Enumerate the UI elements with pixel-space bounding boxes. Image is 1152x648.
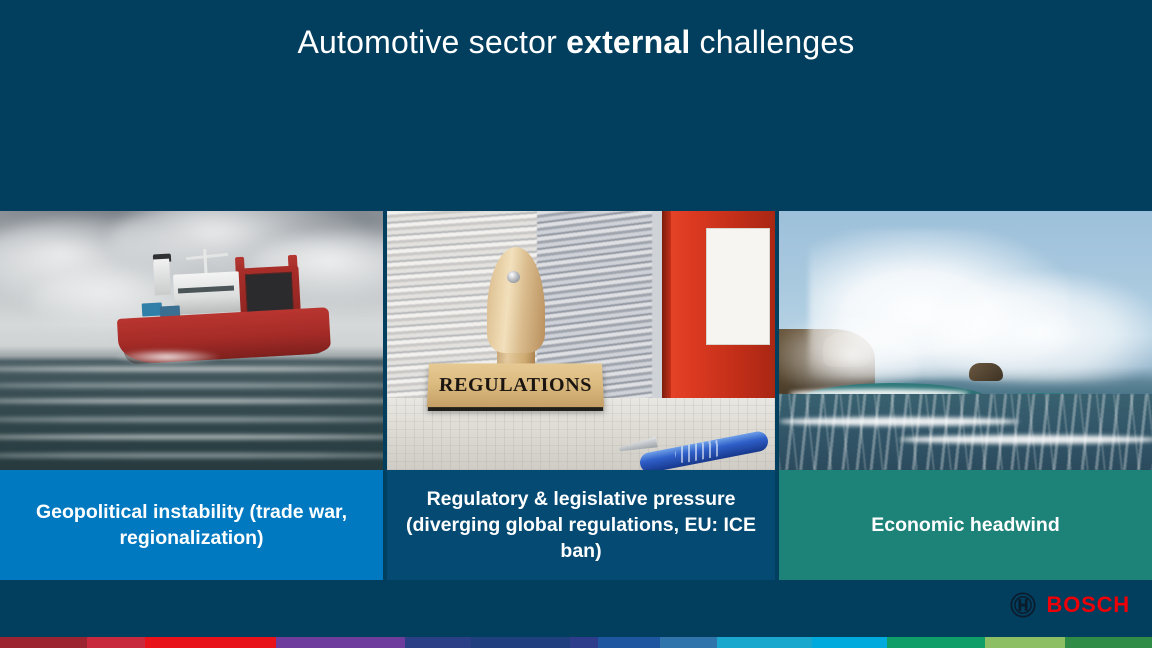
footer-band: BOSCH bbox=[0, 580, 1152, 637]
ship-funnel bbox=[153, 259, 171, 296]
slide: Automotive sector external challenges bbox=[0, 0, 1152, 648]
binder-label bbox=[707, 229, 769, 344]
content-columns: Geopolitical instability (trade war, reg… bbox=[0, 211, 1152, 580]
caption-regulatory-pressure: Regulatory & legislative pressure (diver… bbox=[387, 470, 775, 580]
column-regulatory-pressure[interactable]: REGULATIONS Regulatory & legislative pre… bbox=[387, 211, 775, 580]
regulations-stamp-photo: REGULATIONS bbox=[387, 211, 775, 470]
bosch-wordmark: BOSCH bbox=[1047, 592, 1130, 618]
color-strip-segment-10 bbox=[812, 637, 887, 648]
bow-spray bbox=[112, 349, 222, 365]
title-suffix: challenges bbox=[690, 24, 854, 60]
wave-foam bbox=[779, 417, 1019, 426]
color-strip-segment-12 bbox=[985, 637, 1065, 648]
column-geopolitical-instability[interactable]: Geopolitical instability (trade war, reg… bbox=[0, 211, 383, 580]
cargo-ship bbox=[118, 251, 333, 367]
wave-crest bbox=[0, 435, 383, 439]
bosch-armature-icon bbox=[1010, 592, 1036, 618]
sea-surface-texture bbox=[779, 394, 1152, 470]
bosch-logo: BOSCH bbox=[1010, 592, 1130, 618]
ocean-waves-photo bbox=[779, 211, 1152, 470]
color-strip-segment-13 bbox=[1065, 637, 1152, 648]
color-strip-segment-7 bbox=[598, 637, 660, 648]
coastal-rock bbox=[969, 363, 1003, 381]
color-strip-segment-4 bbox=[405, 637, 471, 648]
page-title: Automotive sector external challenges bbox=[0, 20, 1152, 64]
color-strip-segment-2 bbox=[145, 637, 276, 648]
color-strip-segment-3 bbox=[276, 637, 405, 648]
column-economic-headwind[interactable]: Economic headwind bbox=[779, 211, 1152, 580]
color-strip-segment-0 bbox=[0, 637, 87, 648]
wave-crest bbox=[0, 383, 383, 388]
brand-color-strip bbox=[0, 637, 1152, 648]
color-strip-segment-5 bbox=[471, 637, 570, 648]
wave-crest bbox=[0, 399, 383, 403]
red-binder bbox=[665, 211, 775, 407]
wave-crest bbox=[0, 367, 383, 371]
binder-spine bbox=[662, 211, 671, 407]
color-strip-segment-1 bbox=[87, 637, 145, 648]
color-strip-segment-11 bbox=[887, 637, 985, 648]
stamp-text: REGULATIONS bbox=[427, 363, 604, 407]
caption-economic-headwind: Economic headwind bbox=[779, 470, 1152, 580]
wave-foam bbox=[899, 435, 1152, 444]
color-strip-segment-9 bbox=[717, 637, 812, 648]
ship-mast-crossbeam bbox=[186, 253, 228, 260]
cargo-ship-storm-photo bbox=[0, 211, 383, 470]
caption-geopolitical-instability: Geopolitical instability (trade war, reg… bbox=[0, 470, 383, 580]
color-strip-segment-8 bbox=[660, 637, 717, 648]
color-strip-segment-6 bbox=[570, 637, 598, 648]
wave-crest bbox=[0, 417, 383, 422]
wave-crest bbox=[0, 453, 383, 458]
title-prefix: Automotive sector bbox=[297, 24, 566, 60]
title-emphasis: external bbox=[566, 24, 690, 60]
title-area: Automotive sector external challenges bbox=[0, 0, 1152, 211]
stamp-rivet bbox=[507, 271, 520, 283]
wave-spray bbox=[929, 273, 1152, 383]
